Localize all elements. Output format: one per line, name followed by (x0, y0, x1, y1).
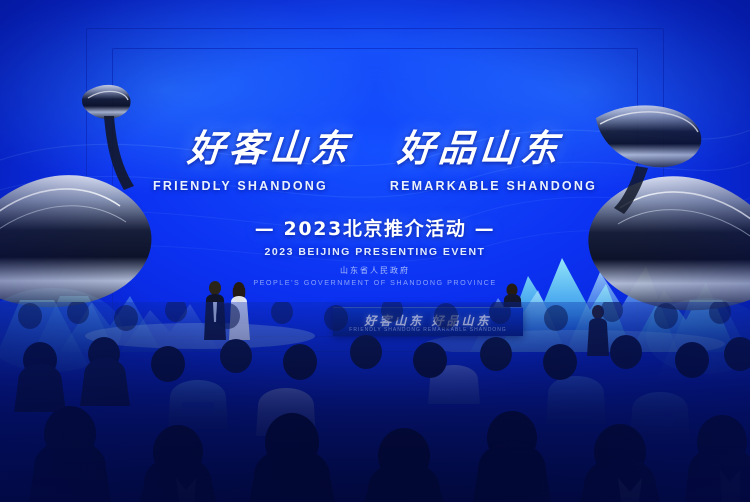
photo-vignette (0, 0, 750, 502)
stage-photo: 好客山东 好品山东 FRIENDLY SHANDONG REMARKABLE S… (0, 0, 750, 502)
